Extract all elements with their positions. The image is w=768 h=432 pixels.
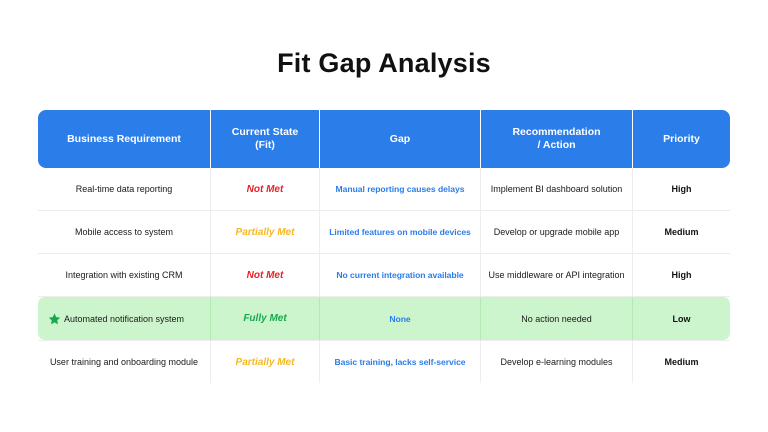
cell-gap: None	[320, 297, 481, 340]
gap-label: Limited features on mobile devices	[329, 227, 471, 237]
cell-priority: Medium	[633, 341, 730, 383]
cell-current-state: Partially Met	[211, 341, 320, 383]
column-header-priority: Priority	[633, 110, 730, 168]
gap-label: Basic training, lacks self-service	[334, 357, 465, 367]
cell-priority: High	[633, 254, 730, 296]
cell-business-requirement: Mobile access to system	[38, 211, 211, 253]
fit-gap-table: Business Requirement Current State (Fit)…	[38, 110, 730, 383]
cell-business-requirement: Real-time data reporting	[38, 168, 211, 210]
recommendation-label: Develop or upgrade mobile app	[494, 227, 620, 237]
cell-gap: Basic training, lacks self-service	[320, 341, 481, 383]
recommendation-label: Use middleware or API integration	[488, 270, 624, 280]
table-row: User training and onboarding module Part…	[38, 340, 730, 383]
cell-business-requirement: Integration with existing CRM	[38, 254, 211, 296]
table-row-highlighted: Automated notification system Fully Met …	[38, 297, 730, 340]
priority-label: Medium	[664, 227, 698, 237]
cell-gap: Manual reporting causes delays	[320, 168, 481, 210]
table-row: Mobile access to system Partially Met Li…	[38, 211, 730, 254]
requirement-label: User training and onboarding module	[50, 357, 198, 367]
cell-priority: Low	[633, 297, 730, 340]
status-badge: Not Met	[247, 184, 284, 195]
recommendation-label: No action needed	[521, 314, 592, 324]
requirement-label: Automated notification system	[64, 314, 184, 324]
table-row: Integration with existing CRM Not Met No…	[38, 254, 730, 297]
column-header-current-state: Current State (Fit)	[211, 110, 320, 168]
table-header-row: Business Requirement Current State (Fit)…	[38, 110, 730, 168]
cell-current-state: Fully Met	[211, 297, 320, 340]
table-row: Real-time data reporting Not Met Manual …	[38, 168, 730, 211]
cell-recommendation: Use middleware or API integration	[481, 254, 633, 296]
gap-label: Manual reporting causes delays	[336, 184, 465, 194]
column-header-current-state-line1: Current State	[232, 126, 299, 138]
priority-label: High	[672, 184, 692, 194]
gap-label: None	[389, 314, 410, 324]
cell-current-state: Partially Met	[211, 211, 320, 253]
status-badge: Partially Met	[236, 357, 295, 368]
column-header-recommendation-line2: / Action	[537, 139, 575, 151]
cell-recommendation: No action needed	[481, 297, 633, 340]
priority-label: Medium	[664, 357, 698, 367]
column-header-business-requirement: Business Requirement	[38, 110, 211, 168]
priority-label: High	[672, 270, 692, 280]
status-badge: Not Met	[247, 270, 284, 281]
requirement-label: Real-time data reporting	[76, 184, 173, 194]
column-header-current-state-line2: (Fit)	[255, 139, 275, 151]
cell-recommendation: Develop or upgrade mobile app	[481, 211, 633, 253]
cell-recommendation: Implement BI dashboard solution	[481, 168, 633, 210]
cell-business-requirement: User training and onboarding module	[38, 341, 211, 383]
cell-current-state: Not Met	[211, 168, 320, 210]
cell-business-requirement: Automated notification system	[38, 297, 211, 340]
cell-gap: No current integration available	[320, 254, 481, 296]
cell-current-state: Not Met	[211, 254, 320, 296]
cell-priority: Medium	[633, 211, 730, 253]
slide-canvas: Fit Gap Analysis Business Requirement Cu…	[0, 0, 768, 432]
page-title: Fit Gap Analysis	[0, 48, 768, 79]
requirement-label: Mobile access to system	[75, 227, 173, 237]
status-badge: Partially Met	[236, 227, 295, 238]
recommendation-label: Develop e-learning modules	[500, 357, 612, 367]
requirement-label: Integration with existing CRM	[65, 270, 182, 280]
column-header-recommendation-line1: Recommendation	[512, 126, 600, 138]
star-icon	[48, 312, 61, 325]
status-badge: Fully Met	[243, 313, 286, 324]
priority-label: Low	[673, 314, 691, 324]
cell-recommendation: Develop e-learning modules	[481, 341, 633, 383]
cell-gap: Limited features on mobile devices	[320, 211, 481, 253]
column-header-gap: Gap	[320, 110, 481, 168]
cell-priority: High	[633, 168, 730, 210]
gap-label: No current integration available	[336, 270, 463, 280]
column-header-recommendation: Recommendation / Action	[481, 110, 633, 168]
recommendation-label: Implement BI dashboard solution	[491, 184, 623, 194]
